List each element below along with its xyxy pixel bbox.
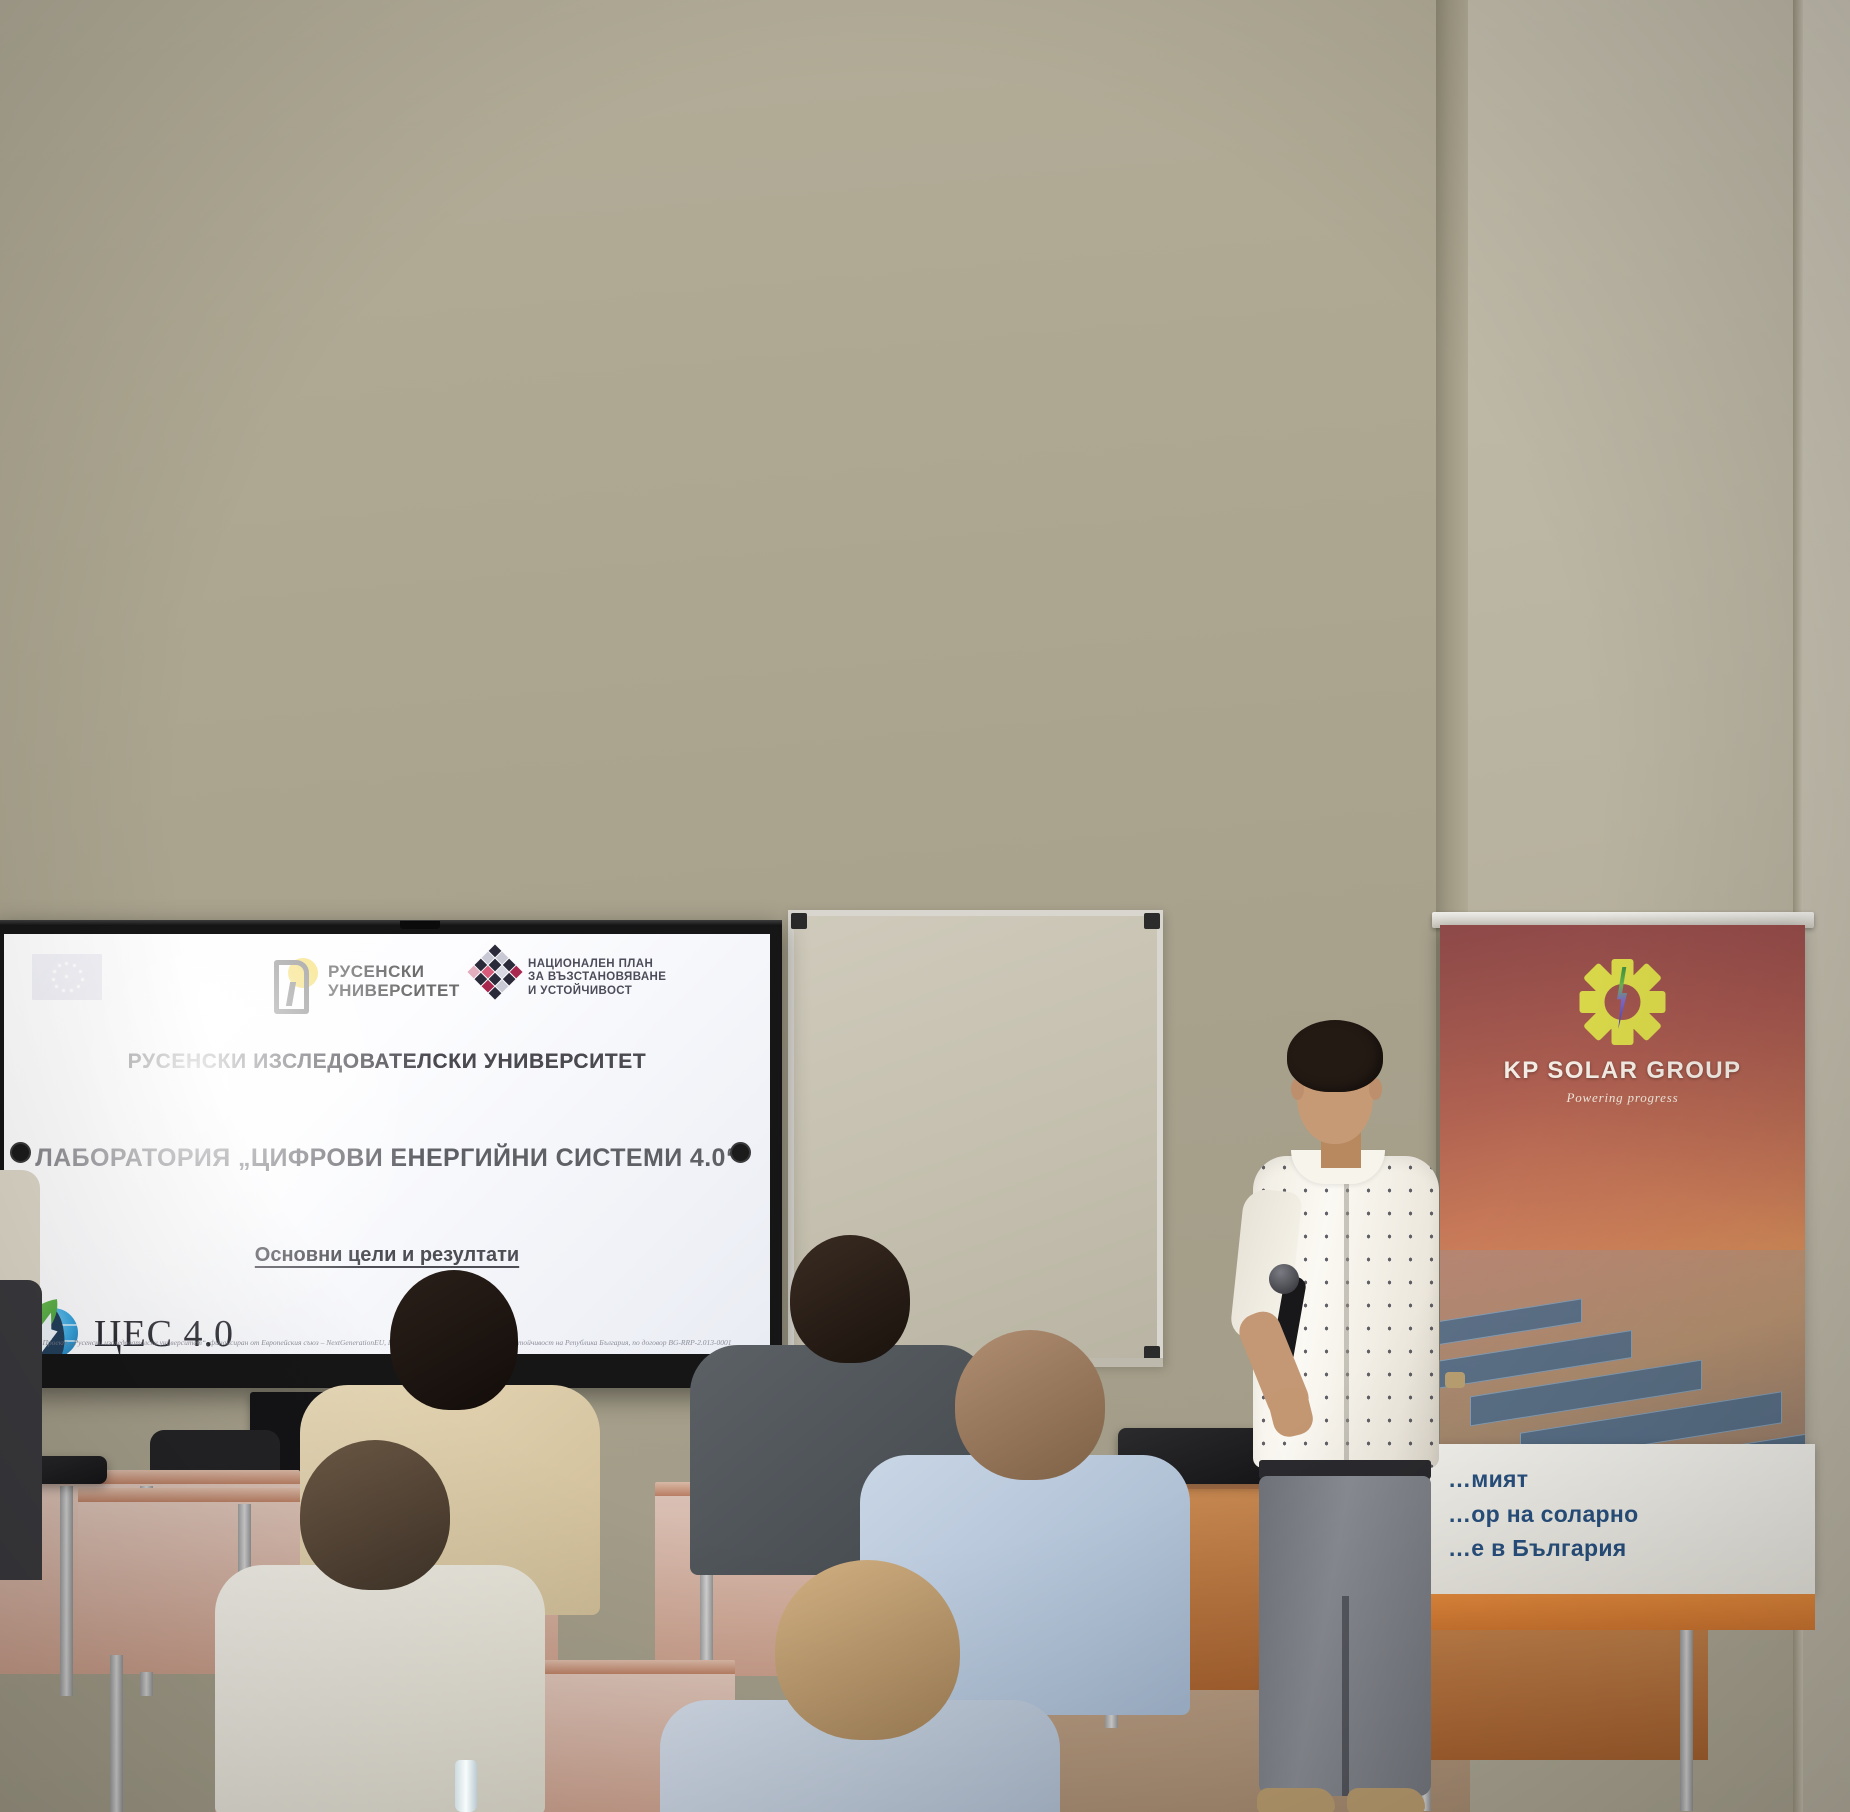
display-ir-sensor <box>400 921 440 929</box>
attendee-white-tshirt-head <box>300 1440 450 1590</box>
np-logo-line1: НАЦИОНАЛЕН ПЛАН <box>528 958 666 972</box>
eu-flag-icon <box>32 954 102 1000</box>
presentation-display[interactable]: РУСЕНСКИ УНИВЕРСИТЕТ <box>0 920 782 1388</box>
slide-lab-title: ЛАБОРАТОРИЯ „ЦИФРОВИ ЕНЕРГИЙНИ СИСТЕМИ 4… <box>4 1142 770 1174</box>
ruse-university-logo: РУСЕНСКИ УНИВЕРСИТЕТ <box>272 956 460 1006</box>
np-logo-line3: И УСТОЙЧИВОСТ <box>528 985 666 999</box>
banner-bottom-line3: …е в България <box>1448 1531 1808 1566</box>
ru-monogram-icon <box>272 956 318 1006</box>
presenter-shoe <box>1347 1788 1425 1812</box>
banner-orange-strip <box>1430 1594 1815 1630</box>
ru-logo-line2: УНИВЕРСИТЕТ <box>328 981 460 1000</box>
np-logo-line2: ЗА ВЪЗСТАНОВЯВАНЕ <box>528 971 666 985</box>
water-bottle <box>455 1760 477 1812</box>
banner-brand-name: KP SOLAR GROUP <box>1440 1057 1805 1085</box>
slide-header: РУСЕНСКИ УНИВЕРСИТЕТ <box>4 942 770 1012</box>
banner-bottom-line2: …ор на соларно <box>1448 1497 1808 1532</box>
kp-solar-banner: KP SOLAR GROUP Powering progress <box>1440 925 1805 1500</box>
np-diamond-icon <box>462 944 527 1009</box>
attendee-front-row-head <box>775 1560 960 1740</box>
lecture-room-photo: KP SOLAR GROUP Powering progress <box>0 0 1850 1812</box>
presenter-shoe <box>1257 1788 1335 1812</box>
slide-footer-funding-note: Проект „Русенски изследователски универс… <box>4 1338 770 1349</box>
display-sensor-left <box>10 1142 31 1163</box>
attendee-blue-check-head <box>955 1330 1105 1480</box>
presenter-hair <box>1287 1020 1383 1092</box>
attendee-grey-polo-head <box>790 1235 910 1363</box>
attendee-beige-shirt-head <box>390 1270 518 1410</box>
kp-solar-logo: KP SOLAR GROUP Powering progress <box>1440 959 1805 1106</box>
display-sensor-right <box>730 1142 751 1163</box>
banner-bottom-text: …мият …ор на соларно …е в България <box>1448 1462 1808 1566</box>
whiteboard-corner <box>1144 913 1160 929</box>
slide-university-line: РУСЕНСКИ ИЗСЛЕДОВАТЕЛСКИ УНИВЕРСИТЕТ <box>4 1050 770 1074</box>
banner-bottom-panel: …мият …ор на соларно …е в България <box>1430 1444 1815 1594</box>
ru-logo-line1: РУСЕНСКИ <box>328 962 460 981</box>
whiteboard-corner <box>791 913 807 929</box>
desk-leg <box>110 1655 123 1812</box>
national-recovery-plan-logo: НАЦИОНАЛЕН ПЛАН ЗА ВЪЗСТАНОВЯВАНЕ И УСТО… <box>472 954 666 1000</box>
wristwatch <box>1445 1372 1465 1388</box>
slide-subtitle: Основни цели и резултати <box>4 1244 770 1267</box>
presenter <box>1235 1020 1485 1812</box>
banner-tagline: Powering progress <box>1440 1090 1805 1106</box>
slide-content: РУСЕНСКИ УНИВЕРСИТЕТ <box>4 934 770 1354</box>
banner-bottom-line1: …мият <box>1448 1462 1808 1497</box>
attendee-white-tshirt-torso <box>215 1565 545 1812</box>
presenter-trousers <box>1259 1476 1431 1796</box>
desk-leg <box>60 1486 73 1696</box>
gear-icon <box>1580 959 1666 1045</box>
